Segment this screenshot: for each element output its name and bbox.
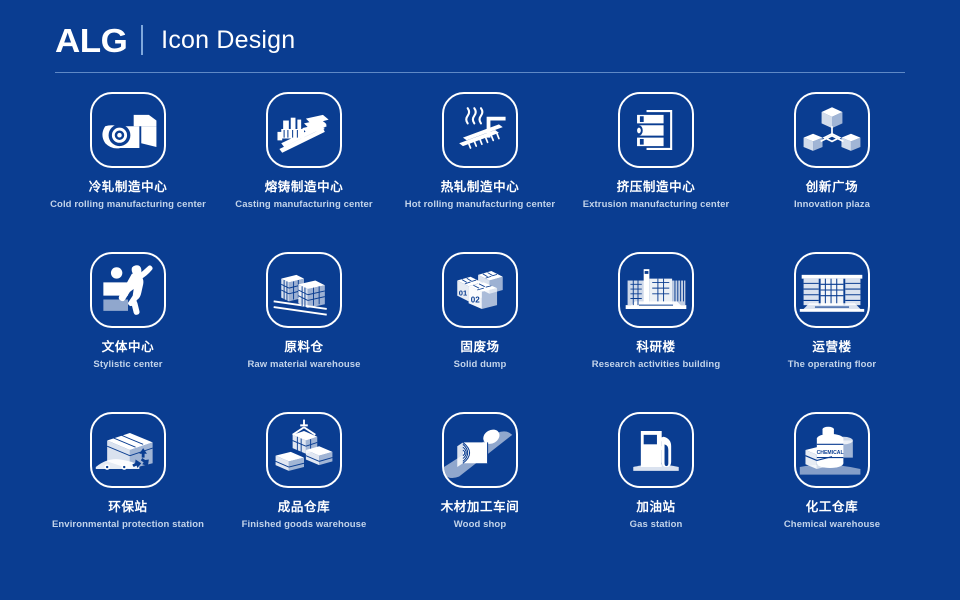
icon-label-en: Casting manufacturing center [235,200,372,210]
icon-cell-environmental[interactable]: 环保站 Environmental protection station [40,412,216,572]
hot-rolling-conveyor-icon [442,92,518,168]
icon-cell-finished-goods[interactable]: 成品仓库 Finished goods warehouse [216,412,392,572]
icon-label-cn: 创新广场 [806,181,858,195]
icon-cell-hot-rolling[interactable]: 热轧制造中心 Hot rolling manufacturing center [392,92,568,252]
icon-label-cn: 热轧制造中心 [441,181,520,195]
icon-label-en: The operating floor [788,360,876,370]
icon-cell-operating-floor[interactable]: 运营楼 The operating floor [744,252,920,412]
extrusion-press-icon [618,92,694,168]
timber-log-icon [442,412,518,488]
icon-label-en: Research activities building [592,360,720,370]
bin-number-two: 02 [471,295,480,304]
icon-cell-raw-material[interactable]: 原料仓 Raw material warehouse [216,252,392,412]
icon-label-cn: 环保站 [108,501,147,515]
recycling-building-icon [90,412,166,488]
icon-label-cn: 固废场 [460,341,499,355]
icon-label-cn: 原料仓 [284,341,323,355]
icon-label-en: Wood shop [454,520,506,530]
numbered-waste-bins-icon: 01 02 [442,252,518,328]
cold-rolling-coil-icon [90,92,166,168]
volleyball-player-icon [90,252,166,328]
icon-label-cn: 化工仓库 [806,501,858,515]
icon-label-en: Stylistic center [93,360,162,370]
icon-cell-innovation[interactable]: 创新广场 Innovation plaza [744,92,920,252]
icon-cell-chemical[interactable]: CHEMICAL 化工仓库 Chemical warehouse [744,412,920,572]
crane-hook-pallets-icon [266,412,342,488]
icon-label-en: Solid dump [454,360,507,370]
icon-label-en: Extrusion manufacturing center [583,200,730,210]
connected-cubes-icon [794,92,870,168]
icon-cell-research-building[interactable]: 科研楼 Research activities building [568,252,744,412]
icon-label-cn: 熔铸制造中心 [265,181,344,195]
icon-label-cn: 文体中心 [102,341,154,355]
icon-label-en: Environmental protection station [52,520,204,530]
icon-label-en: Cold rolling manufacturing center [50,200,206,210]
icon-label-en: Raw material warehouse [247,360,360,370]
research-building-icon [618,252,694,328]
drum-label-text: CHEMICAL [817,450,844,456]
icon-label-cn: 加油站 [636,501,675,515]
icon-grid: 冷轧制造中心 Cold rolling manufacturing center [40,92,920,572]
alg-logo: ALG [55,24,146,57]
header: ALG Icon Design [55,18,905,62]
icon-cell-cold-rolling[interactable]: 冷轧制造中心 Cold rolling manufacturing center [40,92,216,252]
icon-label-en: Chemical warehouse [784,520,880,530]
icon-label-cn: 木材加工车间 [441,501,520,515]
office-building-icon [794,252,870,328]
icon-cell-wood-shop[interactable]: 木材加工车间 Wood shop [392,412,568,572]
icon-label-en: Hot rolling manufacturing center [405,200,555,210]
icon-label-cn: 冷轧制造中心 [89,181,168,195]
icon-cell-extrusion[interactable]: 挤压制造中心 Extrusion manufacturing center [568,92,744,252]
icon-label-cn: 成品仓库 [278,501,330,515]
chemical-drums-icon: CHEMICAL [794,412,870,488]
casting-machine-icon [266,92,342,168]
fuel-pump-icon [618,412,694,488]
icon-label-cn: 挤压制造中心 [617,181,696,195]
icon-design-board: ALG Icon Design [0,0,960,600]
icon-label-en: Gas station [630,520,683,530]
icon-cell-stylistic[interactable]: 文体中心 Stylistic center [40,252,216,412]
page-title: Icon Design [161,28,295,53]
icon-label-en: Innovation plaza [794,200,870,210]
icon-cell-casting[interactable]: 熔铸制造中心 Casting manufacturing center [216,92,392,252]
icon-label-cn: 科研楼 [636,341,675,355]
header-rule [55,72,905,73]
icon-cell-solid-dump[interactable]: 01 02 固废场 Solid dump [392,252,568,412]
icon-label-en: Finished goods warehouse [242,520,367,530]
stacked-billets-icon [266,252,342,328]
icon-label-cn: 运营楼 [812,341,851,355]
bin-number-one: 01 [459,289,467,298]
icon-cell-gas-station[interactable]: 加油站 Gas station [568,412,744,572]
